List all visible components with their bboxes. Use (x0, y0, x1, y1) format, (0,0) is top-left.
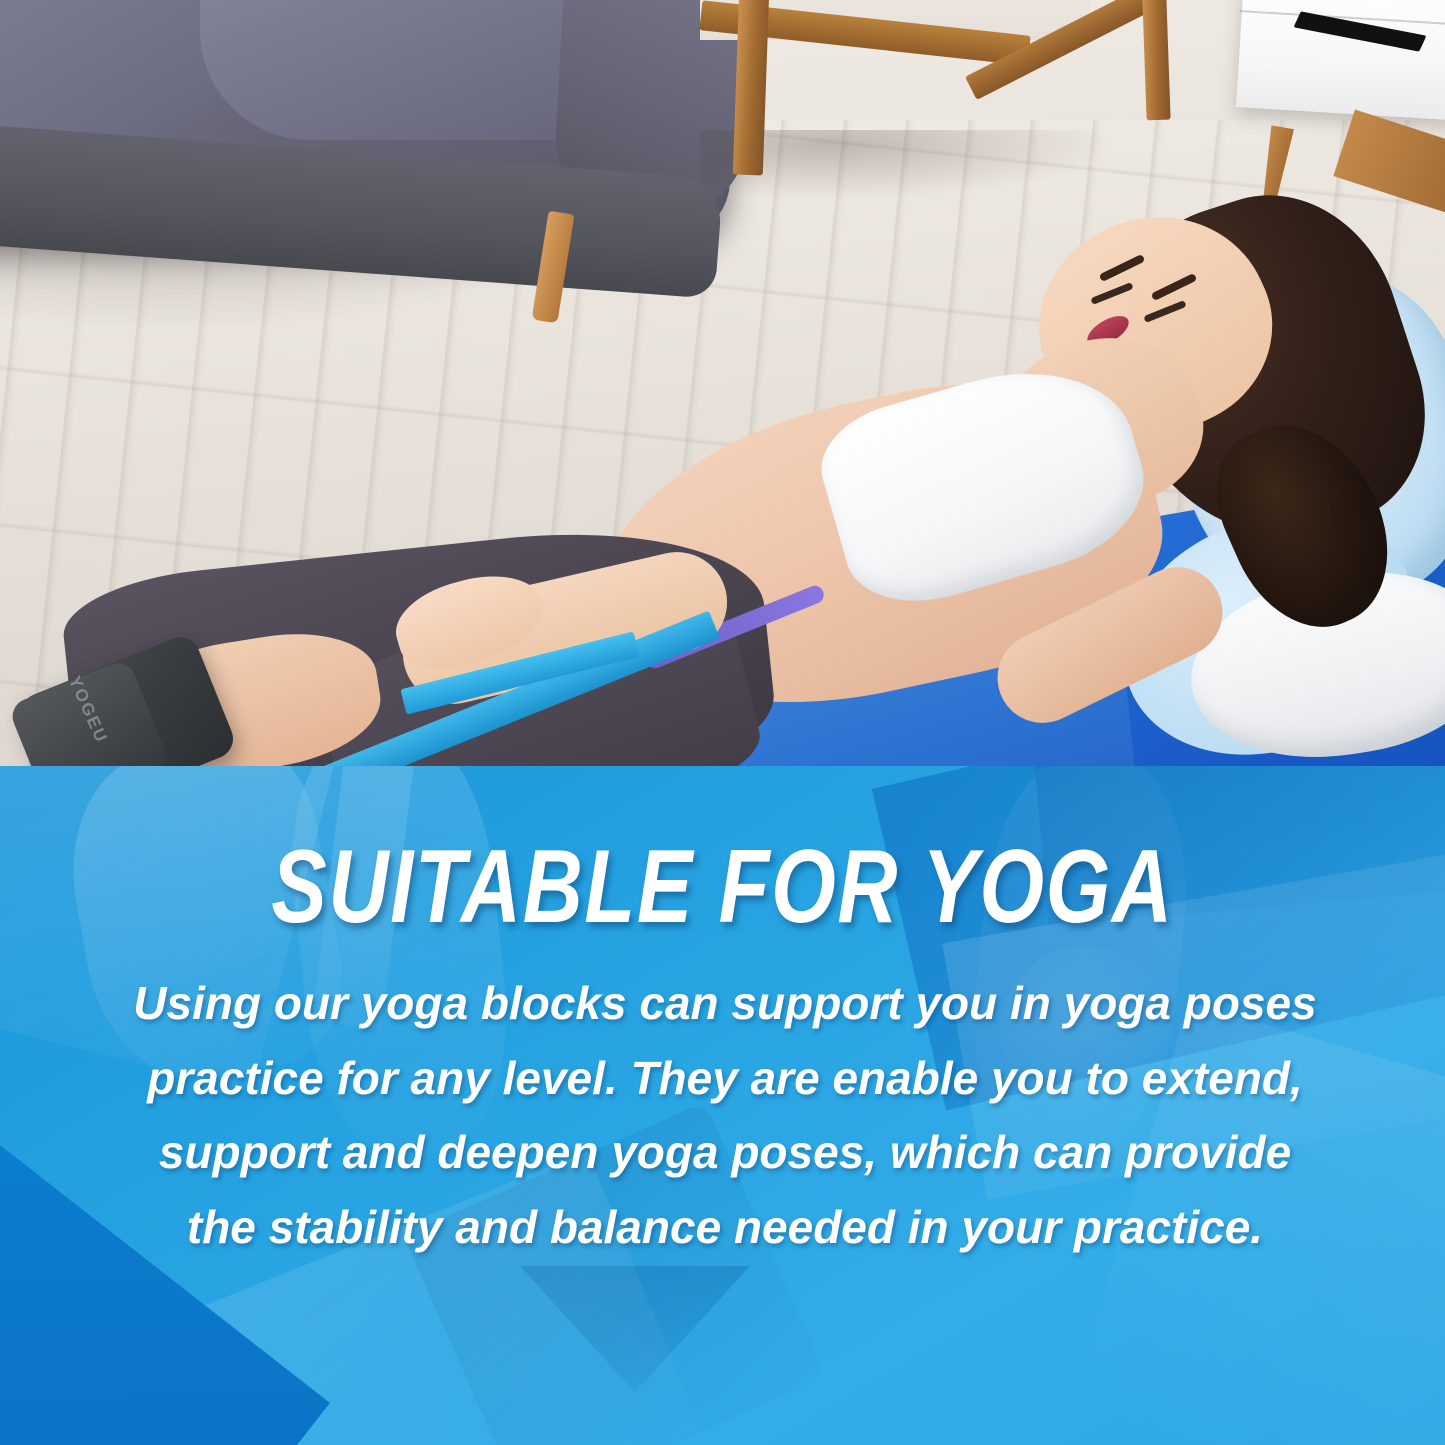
body-line: support and deepen yoga poses, which can… (100, 1115, 1350, 1190)
body-line: the stability and balance needed in your… (100, 1190, 1350, 1265)
lifestyle-photo: YOGEU (0, 0, 1445, 790)
body-line: practice for any level. They are enable … (100, 1041, 1350, 1116)
table-leg-right (1141, 0, 1170, 120)
body-line: Using our yoga blocks can support you in… (100, 966, 1350, 1041)
panel-text-block: SUITABLE FOR YOGA Using our yoga blocks … (0, 766, 1445, 1445)
product-poster: YOGEU SUITABLE FOR YOGA Using our yoga b… (0, 0, 1445, 1445)
info-panel: SUITABLE FOR YOGA Using our yoga blocks … (0, 766, 1445, 1445)
page-title: SUITABLE FOR YOGA (145, 834, 1301, 940)
body-paragraph: Using our yoga blocks can support you in… (100, 966, 1350, 1264)
